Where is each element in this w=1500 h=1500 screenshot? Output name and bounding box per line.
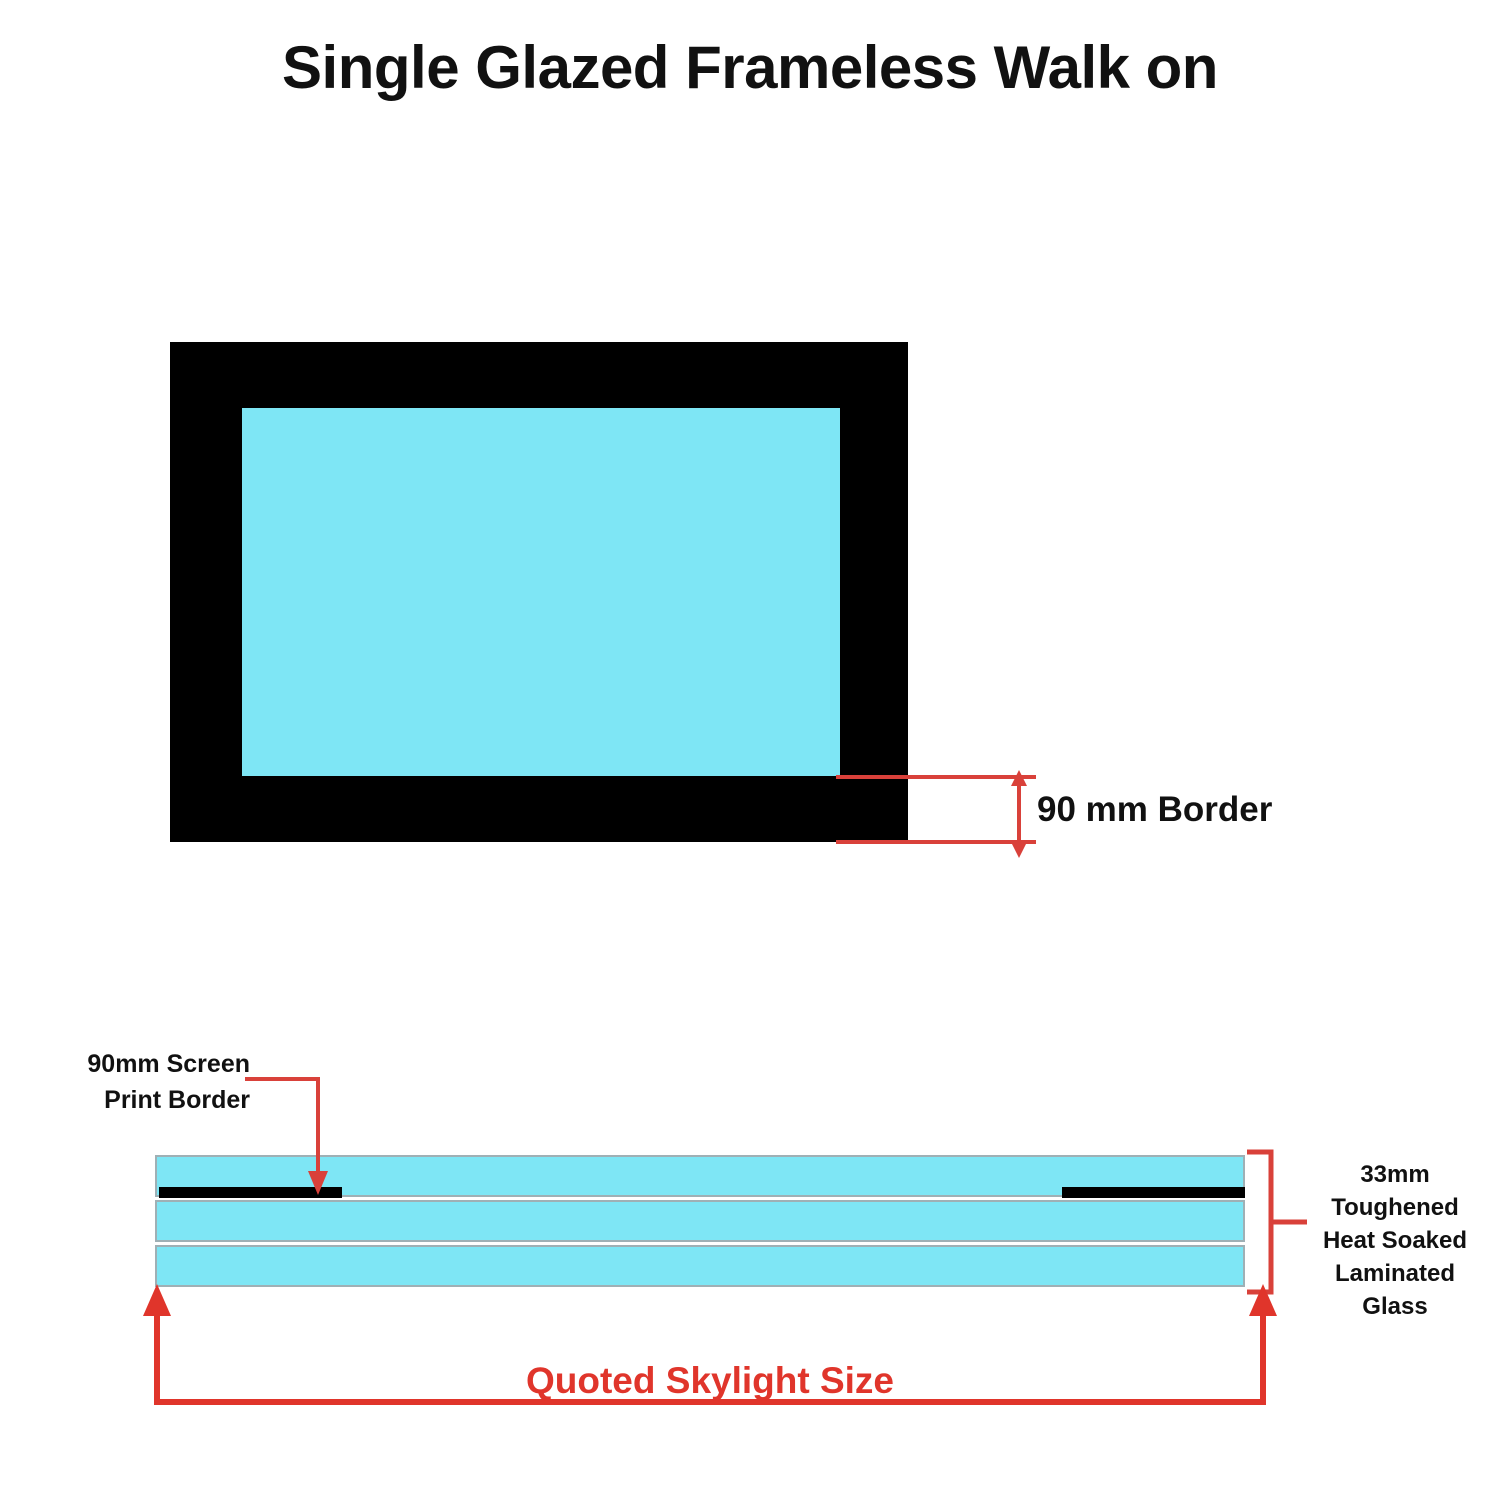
screenprint-border-right	[1062, 1187, 1245, 1198]
plan-view-clear-glass	[242, 408, 840, 776]
screenprint-border-label-line2: Print Border	[20, 1082, 250, 1118]
screenprint-border-label: 90mm Screen Print Border	[20, 1046, 250, 1118]
glass-spec-line4: Laminated Glass	[1300, 1257, 1490, 1323]
glass-spec-line2: Toughened	[1300, 1191, 1490, 1224]
double-arrow-icon	[1004, 768, 1034, 860]
quoted-size-label: Quoted Skylight Size	[140, 1360, 1280, 1402]
screenprint-border-label-line1: 90mm Screen	[20, 1046, 250, 1082]
glass-layer-bottom	[155, 1245, 1245, 1287]
glass-layer-middle	[155, 1200, 1245, 1242]
diagram-canvas: Single Glazed Frameless Walk on 90 mm Bo…	[0, 0, 1500, 1500]
border-dimension-callout: 90 mm Border	[836, 760, 1306, 870]
page-title: Single Glazed Frameless Walk on	[0, 36, 1500, 99]
leader-arrow-icon	[240, 1065, 350, 1200]
border-dimension-label: 90 mm Border	[1037, 786, 1272, 834]
glass-spec-line3: Heat Soaked	[1300, 1224, 1490, 1257]
glass-spec-line1: 33mm	[1300, 1158, 1490, 1191]
plan-view-screenprint-frame	[170, 342, 908, 842]
glass-specification-label: 33mm Toughened Heat Soaked Laminated Gla…	[1300, 1158, 1490, 1323]
